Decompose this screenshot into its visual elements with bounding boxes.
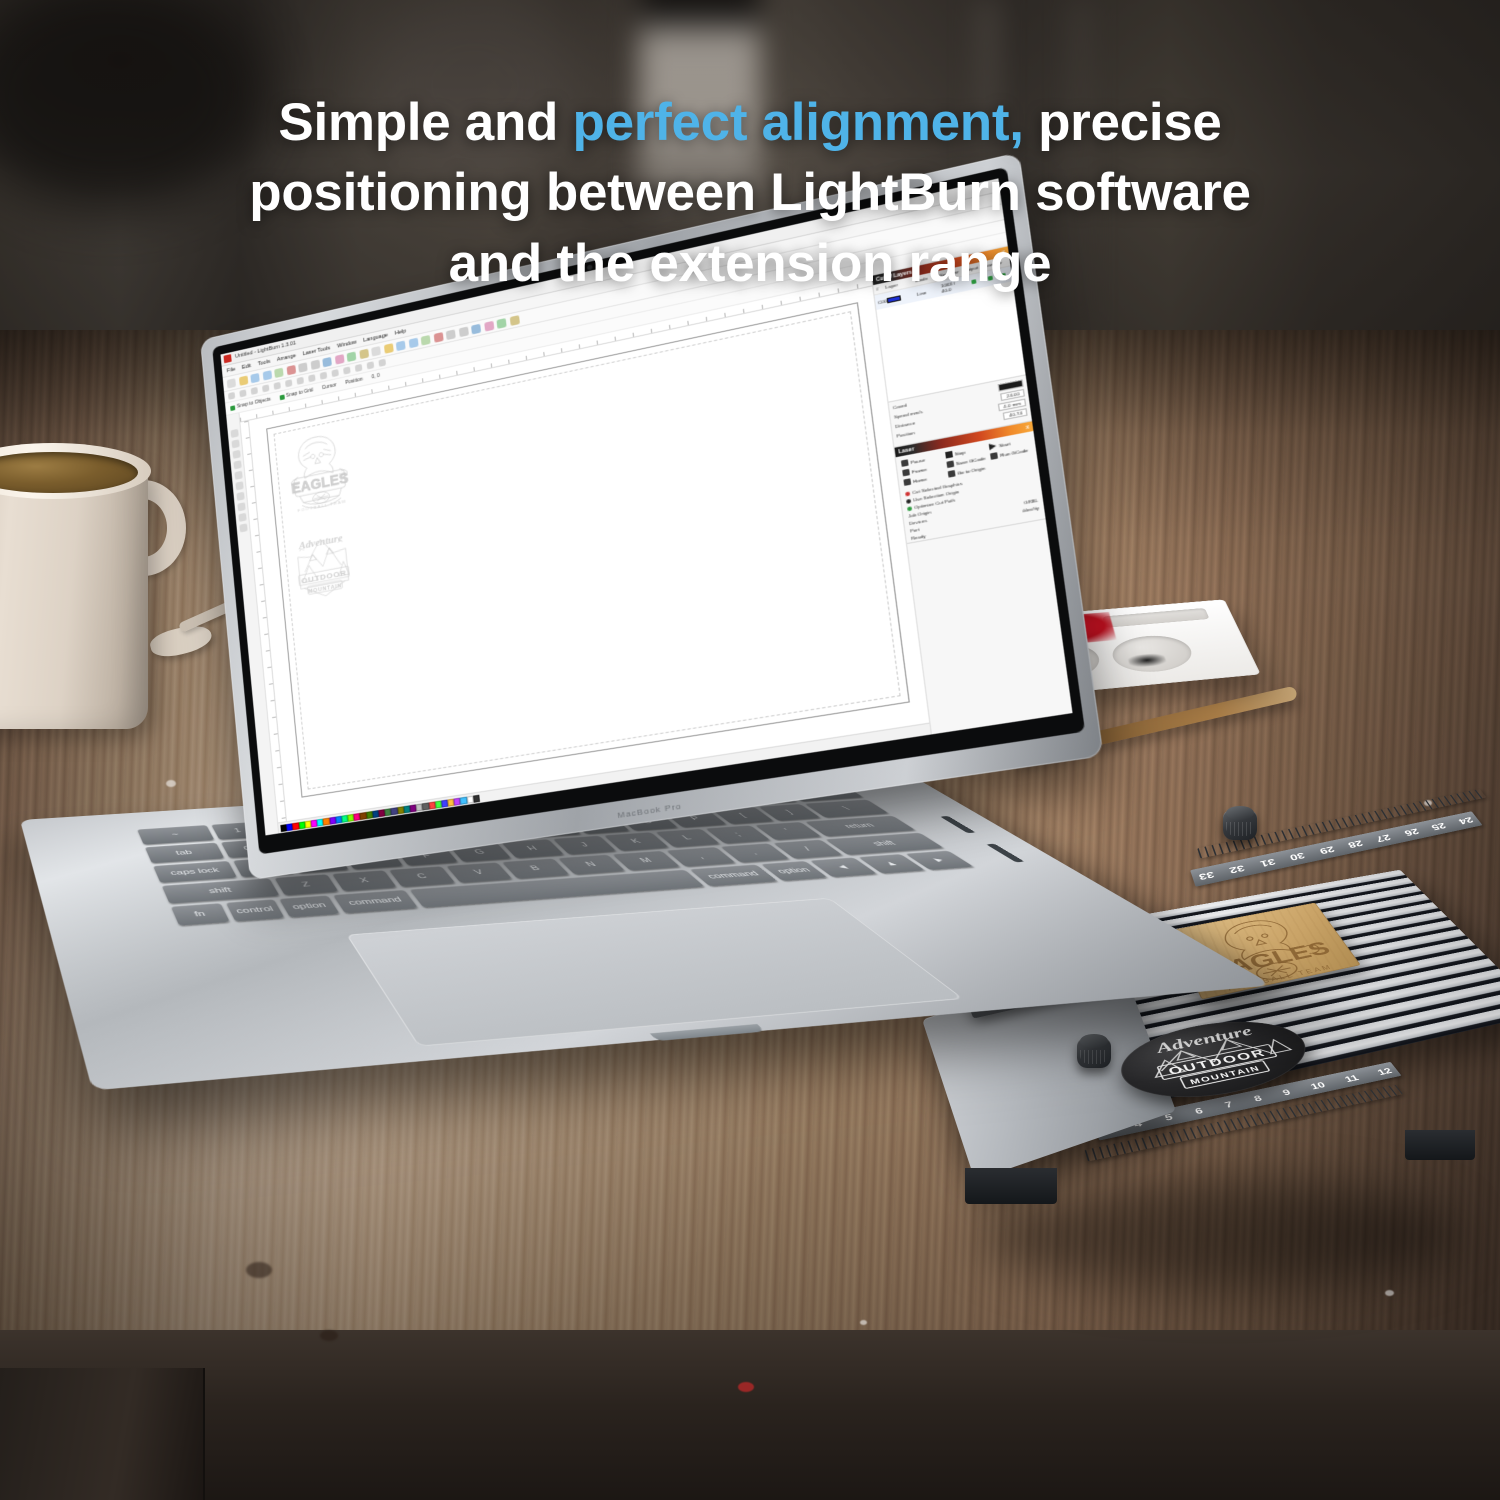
knob-cap: [1226, 806, 1254, 820]
frame-icon[interactable]: [378, 359, 386, 367]
key-caps-lock[interactable]: caps lock: [153, 861, 237, 883]
group-icon[interactable]: [320, 372, 327, 380]
ruler-tick-label: 29: [1317, 844, 1336, 856]
menu-item-edit[interactable]: Edit: [242, 363, 252, 371]
align-bottom-icon[interactable]: [509, 315, 519, 326]
align-center-icon[interactable]: [262, 384, 269, 392]
menu-item-arrange[interactable]: Arrange: [277, 353, 297, 363]
palette-swatch-31[interactable]: [473, 794, 480, 802]
usb-c-port: [986, 844, 1024, 863]
weld-icon[interactable]: [433, 332, 443, 343]
ellipse-tool-icon[interactable]: [234, 471, 242, 480]
cut-icon[interactable]: [286, 364, 295, 374]
stop-label: Stop: [954, 449, 965, 456]
key[interactable]: V: [446, 862, 512, 882]
ready-label: Ready: [911, 533, 926, 541]
headline-part-a: Simple and: [278, 93, 572, 152]
coord-label: Coord: [892, 402, 907, 412]
align-center-icon[interactable]: [458, 326, 468, 337]
key-fn[interactable]: fn: [171, 903, 230, 925]
draw-polygon-icon[interactable]: [383, 343, 393, 354]
ruler-tick-label: 28: [1346, 838, 1365, 850]
rect-tool-icon[interactable]: [233, 460, 241, 469]
align-right-icon[interactable]: [471, 323, 481, 334]
offset-tool-icon[interactable]: [237, 502, 245, 511]
paste-icon[interactable]: [310, 359, 320, 370]
polygon-tool-icon[interactable]: [235, 481, 243, 490]
align-top-icon[interactable]: [484, 320, 494, 331]
frame-label: Frame: [911, 466, 926, 474]
boolean-union-icon[interactable]: [228, 392, 235, 400]
headline-accent: perfect alignment,: [573, 93, 1024, 152]
home-label: Home: [913, 476, 927, 484]
machine-foot: [1405, 1130, 1475, 1160]
key-command[interactable]: command: [333, 890, 418, 913]
key[interactable]: C: [389, 866, 455, 887]
align-middle-icon[interactable]: [496, 318, 506, 329]
palette-slot: [1102, 608, 1209, 628]
ruler-tick-label: 32: [1228, 863, 1246, 875]
ruler-tick-label: 25: [1429, 821, 1448, 832]
menu-item-tools[interactable]: Tools: [257, 358, 270, 366]
text-icon[interactable]: [396, 340, 406, 351]
align-top-icon[interactable]: [285, 379, 292, 387]
align-left-icon[interactable]: [446, 329, 456, 340]
array-tool-icon[interactable]: [238, 513, 246, 522]
menu-item-window[interactable]: Window: [337, 339, 357, 349]
ruler-tick-label: 11: [1342, 1073, 1360, 1084]
usb-c-port: [940, 816, 976, 833]
node-edit-icon[interactable]: [334, 354, 344, 365]
product-banner-scene: Simple and perfect alignment, precise po…: [0, 0, 1500, 1500]
ruler-tick-label: 10: [1308, 1080, 1327, 1091]
ruler-tick-label: 6: [1193, 1105, 1204, 1116]
key-control[interactable]: control: [225, 899, 284, 921]
pos-value[interactable]: 40.74: [1003, 408, 1028, 420]
line-tool-icon[interactable]: [232, 450, 240, 459]
ruler-tick-label: 8: [1252, 1093, 1264, 1103]
ruler-tick-label: 26: [1402, 827, 1421, 838]
key[interactable]: Z: [274, 874, 338, 895]
paint-speck: [860, 1320, 867, 1325]
page-title: Simple and perfect alignment, precise po…: [0, 88, 1500, 299]
boolean-union-icon[interactable]: [421, 334, 431, 345]
draw-rect-icon[interactable]: [359, 348, 369, 359]
headline-line-2: positioning between LightBurn software: [0, 158, 1500, 228]
align-left-icon[interactable]: [251, 387, 258, 395]
save-icon[interactable]: [250, 372, 259, 382]
start-label: Start: [999, 440, 1011, 447]
laptop: ~ 1 2 3 4 5 6 7 8 9 0 - = delete: [20, 320, 1090, 1220]
offset-icon[interactable]: [408, 337, 418, 348]
ungroup-icon[interactable]: [331, 369, 338, 377]
pause-label: Pause: [910, 457, 925, 465]
align-right-icon[interactable]: [274, 382, 281, 390]
paint-speck: [1385, 1290, 1394, 1296]
key-option[interactable]: option: [280, 895, 340, 917]
text-tool-icon[interactable]: [236, 492, 244, 501]
ruler-tick-label: 33: [1197, 869, 1215, 882]
ruler-tick-label: 12: [1375, 1066, 1394, 1077]
position-value: 0, 0: [371, 373, 380, 381]
job-origin-value: [1037, 490, 1038, 495]
undo-icon[interactable]: [262, 370, 271, 380]
headline-line-1: Simple and perfect alignment, precise: [0, 88, 1500, 158]
rotate-icon[interactable]: [367, 361, 375, 369]
lightburn-logo-icon: [223, 354, 231, 363]
key[interactable]: B: [502, 858, 569, 878]
node-edit-tool-icon[interactable]: [231, 439, 239, 448]
ready-value: [1040, 513, 1041, 518]
ruler-tick-label: 31: [1258, 857, 1276, 869]
ruler-tick-label: 30: [1288, 850, 1306, 862]
close-icon[interactable]: x: [1025, 424, 1029, 431]
menu-item-help[interactable]: Help: [395, 328, 407, 336]
headline-line-3: and the extension range: [0, 229, 1500, 299]
measure-tool-icon[interactable]: [239, 523, 247, 532]
ruler-tick-label: 7: [1223, 1099, 1235, 1109]
desk-leg: [0, 1368, 205, 1500]
origin-label: Go to Origin: [957, 465, 986, 476]
ruler-tick-label: 24: [1456, 815, 1475, 826]
desk-front-edge: [0, 1330, 1500, 1500]
key-command[interactable]: command: [690, 864, 778, 886]
weld-icon[interactable]: [239, 389, 246, 397]
align-bottom-icon[interactable]: [308, 374, 315, 382]
key[interactable]: ~: [137, 825, 214, 845]
key[interactable]: N: [557, 855, 625, 875]
open-file-icon[interactable]: [238, 375, 247, 385]
ruler-tick-label: 27: [1374, 832, 1393, 843]
align-middle-icon[interactable]: [297, 377, 304, 385]
ruler-tick-label: 9: [1280, 1087, 1292, 1097]
adjust-knob[interactable]: [1223, 810, 1257, 840]
copy-icon[interactable]: [298, 362, 308, 373]
cursor-label: Cursor: [322, 382, 337, 391]
trackpad[interactable]: [346, 898, 963, 1047]
menu-item-file[interactable]: File: [227, 366, 236, 374]
mirror-v-icon[interactable]: [355, 364, 363, 372]
draw-line-icon[interactable]: [347, 351, 357, 362]
key[interactable]: X: [332, 870, 397, 891]
new-file-icon[interactable]: [227, 378, 236, 388]
key-tab[interactable]: tab: [145, 843, 224, 864]
select-tool-icon[interactable]: [230, 429, 238, 438]
pos-label: Position: [896, 430, 915, 441]
mirror-h-icon[interactable]: [343, 366, 351, 374]
desk-stain: [246, 1262, 272, 1278]
lid-open-notch: [650, 1024, 765, 1041]
select-icon[interactable]: [322, 356, 332, 367]
position-label: Position: [345, 376, 363, 386]
desk-stain: [320, 1330, 338, 1341]
draw-ellipse-icon[interactable]: [371, 346, 381, 357]
red-paint-drop: [738, 1382, 754, 1392]
run-gcode-label: Run GCode: [1000, 447, 1028, 458]
redo-icon[interactable]: [274, 367, 283, 377]
headline-part-b: precise: [1024, 93, 1222, 152]
